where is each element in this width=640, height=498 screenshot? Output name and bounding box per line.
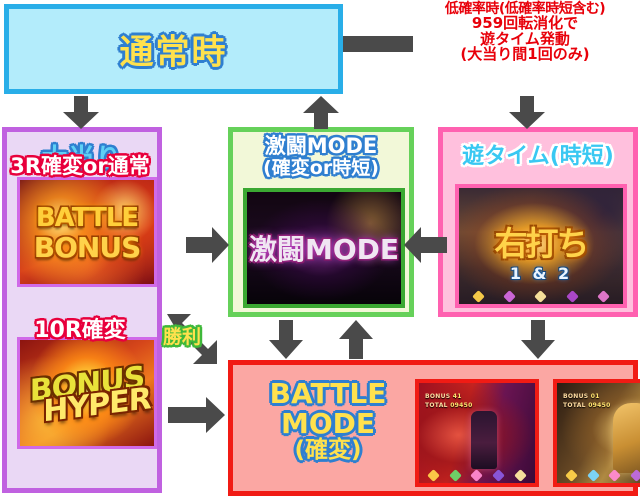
gem-icon	[565, 469, 578, 482]
yutime-gem-row	[463, 285, 619, 301]
edge-label-shori: 勝利	[163, 322, 201, 349]
bonus-hyper-artwork: BONUS HYPER	[17, 337, 157, 449]
hud-bonus-label: BONUS	[563, 393, 588, 400]
gem-icon	[535, 290, 548, 303]
hud-bonus-label: BONUS	[425, 393, 450, 400]
battle-label-line-3: (確変)	[243, 438, 413, 462]
gem-icon	[566, 290, 579, 303]
battle-mode-screen-1: BONUS 41 TOTAL 09450	[415, 379, 539, 487]
arrow-normal-to-oatari	[62, 96, 100, 130]
gem-icon	[449, 469, 462, 482]
node-gekito-mode[interactable]: 激闘MODE (確変or時短) 激闘MODE	[228, 127, 414, 317]
yutime-artwork-word-1: 右打ち	[459, 228, 623, 260]
note-line-4: (大当り間1回のみ)	[460, 47, 589, 62]
node-gekito-mode-label: 激闘MODE (確変or時短)	[233, 135, 409, 178]
hud-total-value: 09450	[450, 402, 472, 409]
arrow-battle-to-gekito	[338, 320, 374, 360]
gem-icon	[427, 469, 440, 482]
hud-total-label: TOTAL	[563, 402, 586, 409]
gem-icon	[492, 469, 505, 482]
gem-icon	[587, 469, 600, 482]
arrow-note-to-yutime	[508, 96, 546, 130]
arrow-yutime-to-battle	[520, 320, 556, 360]
yutime-artwork: 右打ち 1 & 2	[455, 184, 627, 308]
battle-bonus-word-2: BONUS	[20, 234, 154, 261]
flow-diagram: 通常時 低確率時(低確率時短含む) 959回転消化で 遊タイム発動 (大当り間1…	[0, 0, 640, 498]
battle-screen-2-hud: BONUS 01 TOTAL 09450	[563, 393, 611, 410]
arrow-gekito-to-normal	[302, 96, 340, 130]
arrow-gekito-to-battle	[268, 320, 304, 360]
gekito-artwork-word: 激闘MODE	[247, 236, 401, 263]
node-normal-time[interactable]: 通常時	[4, 4, 343, 94]
arrow-10r-to-battle	[168, 396, 226, 434]
battle-label-line-2: MODE	[243, 409, 413, 439]
hud-total-label: TOTAL	[425, 402, 448, 409]
battle-screen-1-gem-row	[423, 464, 531, 480]
node-normal-time-label: 通常時	[9, 25, 338, 74]
node-battle-mode[interactable]: BATTLE MODE (確変) BONUS 41 TOTAL 09450	[228, 360, 638, 496]
gem-icon	[609, 469, 622, 482]
node-yutime-label: 遊タイム(時短)	[443, 138, 633, 170]
hud-bonus-value: 01	[591, 393, 600, 400]
gem-icon	[630, 469, 640, 482]
gem-icon	[514, 469, 527, 482]
battle-screen-2-gem-row	[561, 464, 640, 480]
hud-total-value: 09450	[588, 402, 610, 409]
gem-icon	[471, 469, 484, 482]
arrow-oatari-to-gekito	[186, 226, 230, 264]
battle-label-line-1: BATTLE	[243, 379, 413, 409]
node-battle-mode-label: BATTLE MODE (確変)	[243, 379, 413, 463]
gekito-label-line-2: (確変or時短)	[233, 158, 409, 179]
gem-icon	[503, 290, 516, 303]
gem-icon	[597, 290, 610, 303]
gekito-mode-artwork: 激闘MODE	[243, 188, 405, 308]
battle-bonus-word-1: BATTLE	[20, 206, 154, 231]
yutime-artwork-word-2: 1 & 2	[459, 266, 623, 282]
node-yutime[interactable]: 遊タイム(時短) 右打ち 1 & 2	[438, 127, 638, 317]
connector-bar-normal-to-note	[343, 36, 413, 52]
hud-bonus-value: 41	[453, 393, 462, 400]
battle-bonus-artwork: BATTLE BONUS	[17, 177, 157, 287]
character-silhouette	[471, 411, 497, 469]
note-yutime-trigger: 低確率時(低確率時短含む) 959回転消化で 遊タイム発動 (大当り間1回のみ)	[410, 2, 640, 100]
caption-3r-kakuhen-or-normal: 3R確変or通常	[2, 150, 158, 180]
caption-10r-kakuhen: 10R確変	[2, 312, 158, 344]
gekito-label-line-1: 激闘MODE	[233, 135, 409, 158]
arrow-yutime-to-gekito	[404, 226, 448, 264]
battle-screen-1-hud: BONUS 41 TOTAL 09450	[425, 393, 473, 410]
battle-mode-screen-2: BONUS 01 TOTAL 09450	[553, 379, 640, 487]
node-oatari[interactable]: 大当り BATTLE BONUS BONUS HYPER	[2, 127, 162, 493]
character-silhouette	[613, 403, 640, 473]
gem-icon	[472, 290, 485, 303]
